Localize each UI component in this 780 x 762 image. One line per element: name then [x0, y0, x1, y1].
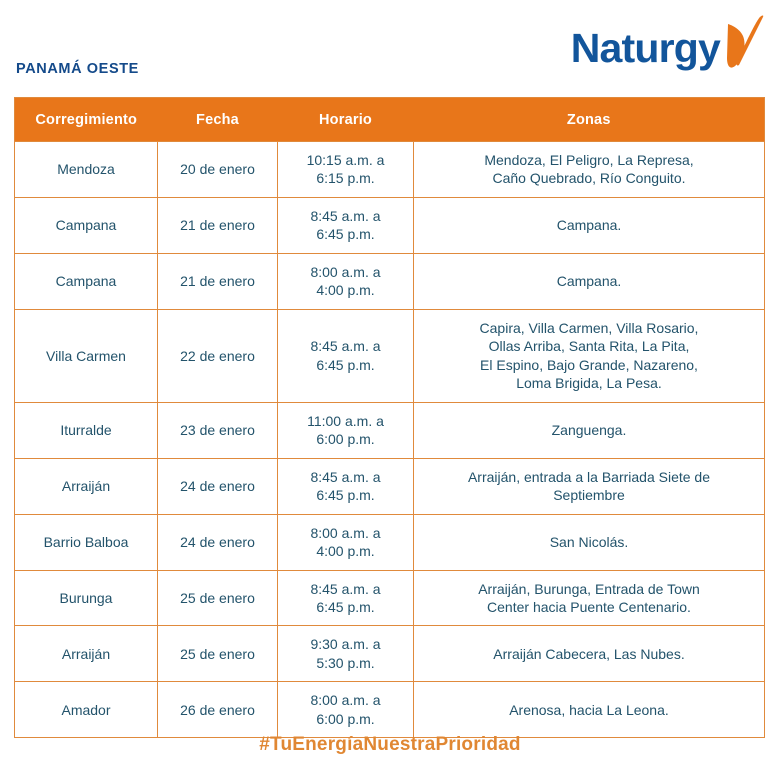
cell-zonas: Zanguenga.	[414, 402, 765, 458]
cell-horario: 8:45 a.m. a6:45 p.m.	[278, 458, 414, 514]
zonas-line: Capira, Villa Carmen, Villa Rosario,	[422, 319, 756, 337]
naturgy-flame-icon	[722, 14, 766, 77]
horario-line: 8:00 a.m. a	[286, 691, 405, 709]
zonas-line: Ollas Arriba, Santa Rita, La Pita,	[422, 337, 756, 355]
table-row: Barrio Balboa24 de enero8:00 a.m. a4:00 …	[15, 514, 765, 570]
table-row: Mendoza20 de enero10:15 a.m. a6:15 p.m.M…	[15, 142, 765, 198]
cell-fecha: 25 de enero	[158, 570, 278, 626]
column-header-horario: Horario	[278, 98, 414, 142]
cell-fecha: 21 de enero	[158, 197, 278, 253]
horario-line: 11:00 a.m. a	[286, 412, 405, 430]
zonas-line: San Nicolás.	[422, 533, 756, 551]
zonas-line: Caño Quebrado, Río Conguito.	[422, 169, 756, 187]
cell-zonas: Arraiján, Burunga, Entrada de TownCenter…	[414, 570, 765, 626]
cell-zonas: Arraiján, entrada a la Barriada Siete de…	[414, 458, 765, 514]
page-header: PANAMÁ OESTE Naturgy	[0, 0, 780, 97]
cell-horario: 11:00 a.m. a6:00 p.m.	[278, 402, 414, 458]
horario-line: 6:45 p.m.	[286, 225, 405, 243]
cell-corregimiento: Mendoza	[15, 142, 158, 198]
zonas-line: Arraiján, entrada a la Barriada Siete de	[422, 468, 756, 486]
cell-horario: 8:45 a.m. a6:45 p.m.	[278, 570, 414, 626]
horario-line: 8:45 a.m. a	[286, 580, 405, 598]
outage-schedule-page: PANAMÁ OESTE Naturgy Corregimiento Fecha…	[0, 0, 780, 762]
outage-schedule-table: Corregimiento Fecha Horario Zonas Mendoz…	[14, 97, 765, 738]
horario-line: 4:00 p.m.	[286, 542, 405, 560]
horario-line: 6:15 p.m.	[286, 169, 405, 187]
horario-line: 6:45 p.m.	[286, 598, 405, 616]
zonas-line: Center hacia Puente Centenario.	[422, 598, 756, 616]
table-row: Campana21 de enero8:45 a.m. a6:45 p.m.Ca…	[15, 197, 765, 253]
horario-line: 10:15 a.m. a	[286, 151, 405, 169]
cell-zonas: Campana.	[414, 197, 765, 253]
cell-fecha: 25 de enero	[158, 626, 278, 682]
page-title: PANAMÁ OESTE	[16, 61, 139, 77]
campaign-hashtag: #TuEnergíaNuestraPrioridad	[259, 734, 520, 756]
cell-corregimiento: Campana	[15, 253, 158, 309]
column-header-zonas: Zonas	[414, 98, 765, 142]
table-row: Arraiján24 de enero8:45 a.m. a6:45 p.m.A…	[15, 458, 765, 514]
table-row: Burunga25 de enero8:45 a.m. a6:45 p.m.Ar…	[15, 570, 765, 626]
zonas-line: Septiembre	[422, 486, 756, 504]
table-header: Corregimiento Fecha Horario Zonas	[15, 98, 765, 142]
table-body: Mendoza20 de enero10:15 a.m. a6:15 p.m.M…	[15, 142, 765, 738]
column-header-corregimiento: Corregimiento	[15, 98, 158, 142]
cell-fecha: 22 de enero	[158, 309, 278, 402]
cell-horario: 9:30 a.m. a5:30 p.m.	[278, 626, 414, 682]
horario-line: 8:00 a.m. a	[286, 263, 405, 281]
cell-corregimiento: Barrio Balboa	[15, 514, 158, 570]
cell-fecha: 24 de enero	[158, 514, 278, 570]
zonas-line: Campana.	[422, 216, 756, 234]
cell-zonas: Mendoza, El Peligro, La Represa,Caño Que…	[414, 142, 765, 198]
horario-line: 8:45 a.m. a	[286, 207, 405, 225]
zonas-line: Arraiján Cabecera, Las Nubes.	[422, 645, 756, 663]
zonas-line: Arenosa, hacia La Leona.	[422, 701, 756, 719]
page-footer: #TuEnergíaNuestraPrioridad	[0, 722, 780, 756]
cell-zonas: Arraiján Cabecera, Las Nubes.	[414, 626, 765, 682]
horario-line: 9:30 a.m. a	[286, 635, 405, 653]
naturgy-wordmark: Naturgy	[571, 28, 720, 69]
cell-fecha: 20 de enero	[158, 142, 278, 198]
horario-line: 8:45 a.m. a	[286, 337, 405, 355]
horario-line: 8:00 a.m. a	[286, 524, 405, 542]
cell-corregimiento: Campana	[15, 197, 158, 253]
table-row: Campana21 de enero8:00 a.m. a4:00 p.m.Ca…	[15, 253, 765, 309]
horario-line: 6:45 p.m.	[286, 356, 405, 374]
cell-fecha: 21 de enero	[158, 253, 278, 309]
cell-corregimiento: Arraiján	[15, 458, 158, 514]
cell-horario: 8:00 a.m. a4:00 p.m.	[278, 253, 414, 309]
cell-zonas: Capira, Villa Carmen, Villa Rosario,Olla…	[414, 309, 765, 402]
cell-horario: 8:45 a.m. a6:45 p.m.	[278, 197, 414, 253]
zonas-line: Campana.	[422, 272, 756, 290]
horario-line: 5:30 p.m.	[286, 654, 405, 672]
cell-corregimiento: Iturralde	[15, 402, 158, 458]
cell-horario: 8:45 a.m. a6:45 p.m.	[278, 309, 414, 402]
table-row: Iturralde23 de enero11:00 a.m. a6:00 p.m…	[15, 402, 765, 458]
naturgy-logo: Naturgy	[571, 14, 766, 77]
cell-horario: 8:00 a.m. a4:00 p.m.	[278, 514, 414, 570]
zonas-line: Mendoza, El Peligro, La Represa,	[422, 151, 756, 169]
cell-corregimiento: Burunga	[15, 570, 158, 626]
column-header-fecha: Fecha	[158, 98, 278, 142]
cell-fecha: 24 de enero	[158, 458, 278, 514]
schedule-table-container: Corregimiento Fecha Horario Zonas Mendoz…	[14, 97, 764, 738]
zonas-line: Zanguenga.	[422, 421, 756, 439]
horario-line: 8:45 a.m. a	[286, 468, 405, 486]
zonas-line: Arraiján, Burunga, Entrada de Town	[422, 580, 756, 598]
table-row: Arraiján25 de enero9:30 a.m. a5:30 p.m.A…	[15, 626, 765, 682]
zonas-line: El Espino, Bajo Grande, Nazareno,	[422, 356, 756, 374]
table-header-row: Corregimiento Fecha Horario Zonas	[15, 98, 765, 142]
table-row: Villa Carmen22 de enero8:45 a.m. a6:45 p…	[15, 309, 765, 402]
zonas-line: Loma Brigida, La Pesa.	[422, 374, 756, 392]
cell-corregimiento: Arraiján	[15, 626, 158, 682]
horario-line: 6:00 p.m.	[286, 430, 405, 448]
cell-corregimiento: Villa Carmen	[15, 309, 158, 402]
cell-fecha: 23 de enero	[158, 402, 278, 458]
horario-line: 6:45 p.m.	[286, 486, 405, 504]
horario-line: 4:00 p.m.	[286, 281, 405, 299]
cell-horario: 10:15 a.m. a6:15 p.m.	[278, 142, 414, 198]
cell-zonas: San Nicolás.	[414, 514, 765, 570]
cell-zonas: Campana.	[414, 253, 765, 309]
